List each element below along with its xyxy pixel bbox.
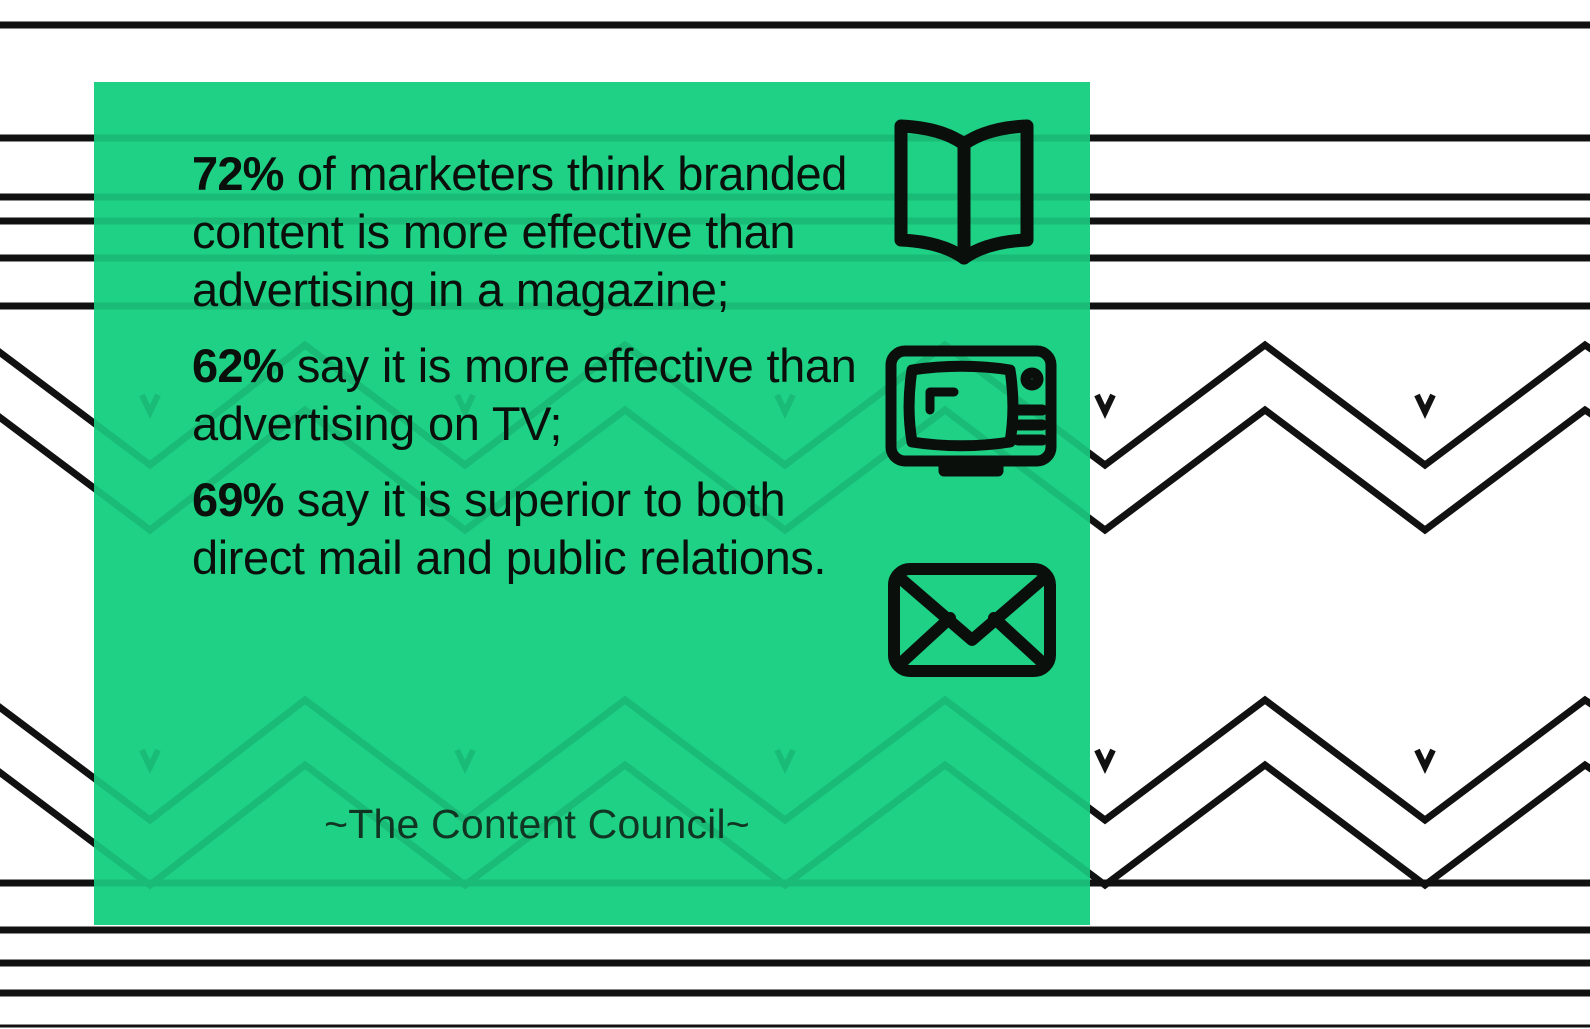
- attribution-source: ~The Content Council~: [192, 800, 882, 848]
- stat-percent-magazine: 72%: [192, 147, 284, 200]
- stat-percent-mail: 69%: [192, 473, 284, 526]
- stat-item-tv: 62% say it is more effective than advert…: [192, 337, 882, 453]
- stat-item-magazine: 72% of marketers think branded content i…: [192, 145, 882, 319]
- stat-text-magazine: of marketers think branded content is mo…: [192, 147, 847, 316]
- statistics-list: 72% of marketers think branded content i…: [192, 145, 882, 587]
- stat-card-content: 72% of marketers think branded content i…: [94, 82, 1090, 925]
- television-icon: [882, 340, 1060, 480]
- stat-card: 72% of marketers think branded content i…: [94, 82, 1090, 925]
- stat-percent-tv: 62%: [192, 339, 284, 392]
- stat-item-mail: 69% say it is superior to both direct ma…: [192, 471, 882, 587]
- infographic-canvas: 72% of marketers think branded content i…: [0, 0, 1590, 1029]
- open-book-icon: [884, 110, 1044, 270]
- stat-text-mail: say it is superior to both direct mail a…: [192, 473, 826, 584]
- stat-text-tv: say it is more effective than advertisin…: [192, 339, 856, 450]
- envelope-icon: [886, 560, 1058, 680]
